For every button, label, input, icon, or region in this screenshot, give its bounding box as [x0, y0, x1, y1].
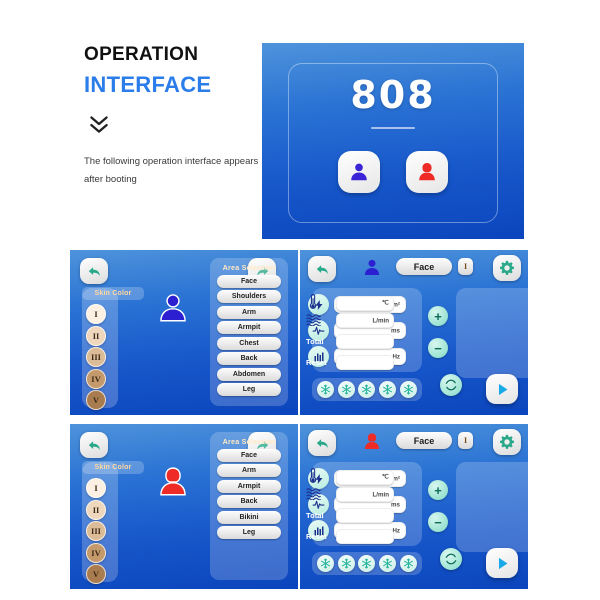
total-field[interactable]	[336, 334, 394, 349]
snowflake-icon	[341, 384, 352, 395]
pulse-unit: ms	[391, 327, 400, 334]
cooling-level-button[interactable]	[379, 555, 396, 572]
area-button-shoulders[interactable]: Shoulders	[217, 290, 281, 303]
increase-button[interactable]: +	[428, 480, 448, 500]
back-arrow-icon	[86, 263, 103, 280]
skin-tone-button[interactable]: II	[86, 500, 106, 520]
area-button-abdomen[interactable]: Abdomen	[217, 368, 281, 381]
decrease-button-wrap: −	[428, 512, 448, 532]
reset-label: Reset	[306, 358, 336, 367]
skin-color-title: Skin Color	[82, 287, 144, 300]
intro-block: OPERATION INTERFACE The following operat…	[84, 44, 264, 188]
total-label: Total	[306, 511, 336, 520]
snowflake-icon	[403, 384, 414, 395]
snowflake-icon	[320, 558, 331, 569]
male-profile-button[interactable]	[338, 151, 380, 193]
decrease-button[interactable]: −	[428, 338, 448, 358]
model-number: 808	[262, 73, 524, 117]
readout-row-temperature: ℃	[306, 468, 394, 486]
splash-divider	[371, 127, 415, 129]
cooling-level-button[interactable]	[358, 381, 375, 398]
settings-button[interactable]	[493, 255, 521, 281]
chevron-double-down-icon	[86, 111, 112, 137]
area-button-face[interactable]: Face	[217, 275, 281, 288]
skin-tone-button[interactable]: II	[86, 326, 106, 346]
settings-button[interactable]	[493, 429, 521, 455]
back-button[interactable]	[80, 258, 108, 284]
area-selection-panel: Area Selection Face Arm Armpit Back Biki…	[210, 432, 288, 580]
area-selection-title: Area Selection	[210, 437, 288, 446]
gear-icon	[498, 433, 516, 451]
back-arrow-icon	[314, 435, 331, 452]
skin-color-title: Skin Color	[82, 461, 144, 474]
readout-row-total: Total	[306, 508, 394, 523]
temperature-field[interactable]: ℃	[336, 470, 394, 485]
increase-button-wrap: +	[428, 480, 448, 500]
cooling-level-button[interactable]	[400, 555, 417, 572]
selection-panel-female: Skin Color I II III IV V Area Selection …	[70, 424, 298, 589]
cooling-level-button[interactable]	[317, 555, 334, 572]
total-field[interactable]	[336, 508, 394, 523]
readout-row-flow: L/min	[306, 313, 394, 328]
cooling-level-button[interactable]	[338, 381, 355, 398]
back-button[interactable]	[308, 256, 336, 282]
skin-tone-button[interactable]: I	[86, 478, 106, 498]
back-button[interactable]	[308, 430, 336, 456]
play-triangle-icon	[494, 555, 511, 572]
area-button-back[interactable]: Back	[217, 495, 281, 508]
flow-field[interactable]: L/min	[336, 487, 394, 502]
temperature-unit: ℃	[382, 300, 389, 307]
decrease-button[interactable]: −	[428, 512, 448, 532]
readout-row-flow: L/min	[306, 487, 394, 502]
area-button-leg[interactable]: Leg	[217, 526, 281, 539]
cooling-level-button[interactable]	[400, 381, 417, 398]
female-avatar-icon	[362, 431, 382, 452]
reset-field[interactable]	[336, 529, 394, 544]
selection-panel-male: Skin Color I II III IV V Area Selection …	[70, 250, 298, 415]
skin-tone-button[interactable]: V	[86, 390, 106, 410]
area-button-chest[interactable]: Chest	[217, 337, 281, 350]
control-header: Face I	[300, 250, 528, 286]
snowflake-icon	[361, 384, 372, 395]
reset-label: Reset	[306, 532, 336, 541]
readout-row-reset: Reset	[306, 355, 394, 370]
area-selection-title: Area Selection	[210, 263, 288, 272]
reset-field[interactable]	[336, 355, 394, 370]
skin-tone-list: I II III IV V	[86, 478, 106, 586]
play-triangle-icon	[494, 381, 511, 398]
intro-description: The following operation interface appear…	[84, 153, 264, 188]
area-button-back[interactable]: Back	[217, 352, 281, 365]
skin-tone-list: I II III IV V	[86, 304, 106, 412]
refresh-cycle-icon	[444, 378, 458, 392]
readout-row-total: Total	[306, 334, 394, 349]
control-header: Face I	[300, 424, 528, 460]
cooling-level-button[interactable]	[358, 555, 375, 572]
skin-tone-button[interactable]: IV	[86, 369, 106, 389]
readout-row-temperature: ℃	[306, 294, 394, 312]
area-selection-panel: Area Selection Face Shoulders Arm Armpit…	[210, 258, 288, 406]
area-button-armpit[interactable]: Armpit	[217, 321, 281, 334]
snowflake-icon	[341, 558, 352, 569]
temperature-field[interactable]: ℃	[336, 296, 394, 311]
status-readout-card	[456, 288, 528, 378]
skin-tone-badge[interactable]: I	[458, 432, 473, 449]
decrease-button-wrap: −	[428, 338, 448, 358]
pulse-unit: ms	[391, 501, 400, 508]
area-button-face[interactable]: Face	[217, 449, 281, 462]
male-avatar-icon	[156, 290, 190, 326]
page-title: OPERATION	[84, 44, 264, 66]
splash-profile-buttons	[262, 151, 524, 193]
refresh-cycle-button[interactable]	[440, 548, 462, 570]
female-avatar-icon	[416, 161, 438, 183]
water-flow-icon	[306, 487, 336, 502]
increase-button-wrap: +	[428, 306, 448, 326]
flow-unit: L/min	[373, 317, 390, 324]
area-button-arm[interactable]: Arm	[217, 306, 281, 319]
cooling-level-button[interactable]	[317, 381, 334, 398]
snowflake-icon	[382, 558, 393, 569]
female-avatar-icon	[156, 464, 190, 500]
snowflake-icon	[403, 558, 414, 569]
flow-unit: L/min	[373, 491, 390, 498]
thermometer-icon	[306, 468, 336, 486]
page-subtitle: INTERFACE	[84, 72, 264, 97]
refresh-cycle-button[interactable]	[440, 374, 462, 396]
thermometer-icon	[306, 294, 336, 312]
skin-tone-button[interactable]: III	[86, 521, 106, 541]
cooling-level-bar	[312, 552, 422, 575]
snowflake-icon	[382, 384, 393, 395]
skin-tone-button[interactable]: IV	[86, 543, 106, 563]
female-profile-button[interactable]	[406, 151, 448, 193]
snowflake-icon	[320, 384, 331, 395]
area-button-armpit[interactable]: Armpit	[217, 480, 281, 493]
refresh-cycle-icon	[444, 552, 458, 566]
cooling-level-button[interactable]	[338, 555, 355, 572]
skin-tone-badge[interactable]: I	[458, 258, 473, 275]
snowflake-icon	[361, 558, 372, 569]
skin-tone-button[interactable]: III	[86, 347, 106, 367]
cooling-level-button[interactable]	[379, 381, 396, 398]
start-button[interactable]	[486, 374, 518, 404]
selected-area-label[interactable]: Face	[396, 258, 452, 275]
area-button-leg[interactable]: Leg	[217, 383, 281, 396]
start-button[interactable]	[486, 548, 518, 578]
status-readout-card	[456, 462, 528, 552]
male-avatar-icon	[362, 257, 382, 278]
cooling-level-bar	[312, 378, 422, 401]
gear-icon	[498, 259, 516, 277]
skin-tone-button[interactable]: I	[86, 304, 106, 324]
selected-area-label[interactable]: Face	[396, 432, 452, 449]
control-panel-female: Face I J/cm² ms	[300, 424, 528, 589]
skin-tone-button[interactable]: V	[86, 564, 106, 584]
increase-button[interactable]: +	[428, 306, 448, 326]
control-panel-male: Face I J/cm² ms	[300, 250, 528, 415]
male-avatar-icon	[348, 161, 370, 183]
area-button-bikini[interactable]: Bikini	[217, 511, 281, 524]
splash-screen-panel: 808	[262, 43, 524, 239]
area-button-arm[interactable]: Arm	[217, 464, 281, 477]
back-arrow-icon	[86, 437, 103, 454]
back-button[interactable]	[80, 432, 108, 458]
back-arrow-icon	[314, 261, 331, 278]
page-root: OPERATION INTERFACE The following operat…	[0, 0, 600, 600]
total-label: Total	[306, 337, 336, 346]
temperature-unit: ℃	[382, 474, 389, 481]
readout-row-reset: Reset	[306, 529, 394, 544]
water-flow-icon	[306, 313, 336, 328]
flow-field[interactable]: L/min	[336, 313, 394, 328]
